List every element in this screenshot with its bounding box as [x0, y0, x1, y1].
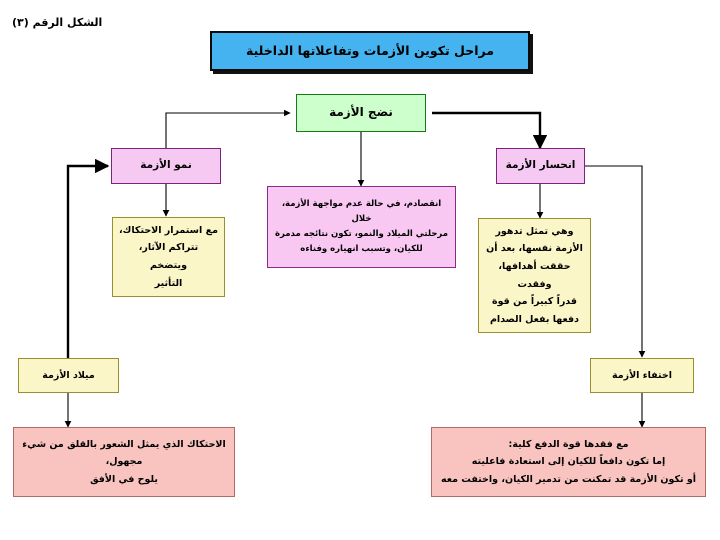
note-disappearance-lines: مع فقدها قوة الدفع كلية: إما تكون دافعاً… — [438, 436, 699, 487]
note-decline-line-4: قدراً كبيراً من قوة — [485, 293, 584, 311]
note-birth-line-1: الاحتكاك الذي يمثل الشعور بالقلق من شيء … — [20, 436, 228, 470]
stage-box-disappearance[interactable]: اختفاء الأزمة — [590, 358, 694, 393]
connector-growth-to-maturity — [166, 113, 290, 148]
stage-label-decline: انحسار الأزمة — [506, 158, 576, 173]
note-disappearance-line-2: إما تكون دافعاً للكيان إلى استعادة فاعلي… — [438, 453, 699, 470]
note-disappearance-line-3: أو تكون الأزمة قد تمكنت من تدمير الكيان،… — [438, 471, 699, 488]
note-growth-line-3: التأثير — [119, 275, 218, 293]
note-maturity-line-1: انقصادم، في حالة عدم مواجهة الأزمة، خلال — [274, 197, 449, 227]
diagram-title-text: مراحل تكوين الأزمات وتفاعلاتها الداخلية — [246, 42, 494, 60]
stage-box-growth[interactable]: نمو الأزمة — [111, 148, 221, 184]
note-maturity-lines: انقصادم، في حالة عدم مواجهة الأزمة، خلال… — [274, 197, 449, 257]
figure-number-label: الشكل الرقم (٣) — [12, 16, 102, 29]
stage-label-birth: ميلاد الأزمة — [42, 369, 95, 383]
note-box-growth: مع استمرار الاحتكاك، تتراكم الآثار، ويتض… — [112, 217, 225, 297]
connector-decline-to-disappearance — [585, 166, 642, 357]
note-birth-lines: الاحتكاك الذي يمثل الشعور بالقلق من شيء … — [20, 436, 228, 487]
note-maturity-line-2: مرحلتي الميلاد والنمو، تكون نتائجه مدمرة — [274, 227, 449, 242]
diagram-canvas: الشكل الرقم (٣) مراحل تكوين الأزمات وتفا… — [0, 0, 720, 540]
note-decline-line-5: دفعها بفعل الصدام — [485, 311, 584, 329]
diagram-title-banner: مراحل تكوين الأزمات وتفاعلاتها الداخلية — [210, 31, 530, 71]
stage-box-birth[interactable]: ميلاد الأزمة — [18, 358, 119, 393]
note-decline-line-1: وهي تمثل تدهور — [485, 223, 584, 241]
note-growth-lines: مع استمرار الاحتكاك، تتراكم الآثار، ويتض… — [119, 222, 218, 292]
stage-label-maturity: نضج الأزمة — [329, 104, 393, 121]
note-decline-line-3: حققت أهدافها، وفقدت — [485, 258, 584, 293]
note-growth-line-1: مع استمرار الاحتكاك، — [119, 222, 218, 240]
note-box-birth: الاحتكاك الذي يمثل الشعور بالقلق من شيء … — [13, 427, 235, 497]
note-decline-line-2: الأزمة نفسها، بعد أن — [485, 240, 584, 258]
connector-birth-to-growth — [68, 166, 108, 360]
note-birth-line-2: يلوح في الأفق — [20, 471, 228, 488]
note-decline-lines: وهي تمثل تدهور الأزمة نفسها، بعد أن حققت… — [485, 223, 584, 328]
note-box-decline: وهي تمثل تدهور الأزمة نفسها، بعد أن حققت… — [478, 218, 591, 333]
note-growth-line-2: تتراكم الآثار، ويتضخم — [119, 239, 218, 274]
note-maturity-line-3: للكيان، وتسبب انهياره وفناءه — [274, 242, 449, 257]
stage-box-decline[interactable]: انحسار الأزمة — [496, 148, 585, 184]
stage-label-disappearance: اختفاء الأزمة — [612, 369, 672, 383]
connector-maturity-to-decline — [432, 113, 540, 148]
stage-label-growth: نمو الأزمة — [140, 158, 192, 173]
note-box-disappearance: مع فقدها قوة الدفع كلية: إما تكون دافعاً… — [431, 427, 706, 497]
stage-box-maturity[interactable]: نضج الأزمة — [296, 94, 426, 132]
note-box-maturity: انقصادم، في حالة عدم مواجهة الأزمة، خلال… — [267, 186, 456, 268]
note-disappearance-line-1: مع فقدها قوة الدفع كلية: — [438, 436, 699, 453]
